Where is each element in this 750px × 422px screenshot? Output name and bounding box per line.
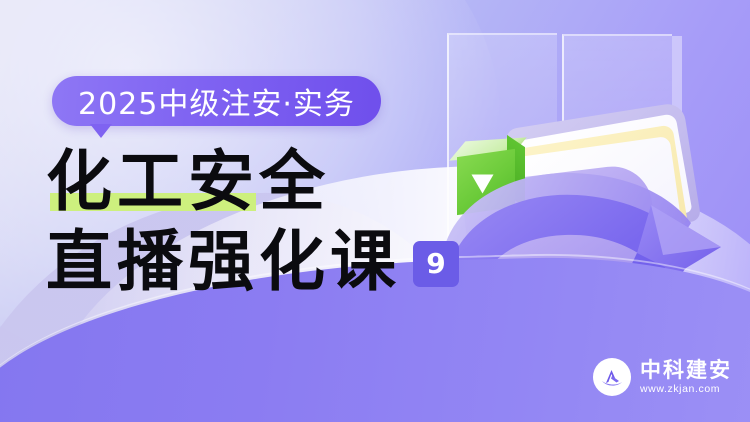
headline-line-1: 化工安全 xyxy=(46,148,466,214)
zkjan-logo-mark-icon xyxy=(593,358,631,396)
headline-line-2: 直播强化课 9 xyxy=(46,228,466,294)
episode-number-badge: 9 xyxy=(413,241,459,287)
headline-line-1-text: 化工安全 xyxy=(46,142,330,220)
promo-banner: 2025中级注安·实务 化工安全 直播强化课 9 中科建安 www.zkjan.… xyxy=(0,0,750,422)
logo-brand-name: 中科建安 xyxy=(640,360,732,381)
play-triangle-icon xyxy=(472,175,494,194)
headline-line-2-text: 直播强化课 xyxy=(46,228,401,294)
badge-pill-tail xyxy=(90,124,112,138)
logo-text-group: 中科建安 www.zkjan.com xyxy=(640,360,732,395)
logo-website-url: www.zkjan.com xyxy=(640,384,732,395)
headline-block: 化工安全 直播强化课 9 xyxy=(46,148,466,294)
badge-pill-body: 2025中级注安·实务 xyxy=(52,76,381,126)
badge-pill-label: 2025中级注安·实务 xyxy=(78,79,355,123)
brand-logo[interactable]: 中科建安 www.zkjan.com xyxy=(593,358,732,396)
course-category-badge: 2025中级注安·实务 xyxy=(52,76,381,126)
